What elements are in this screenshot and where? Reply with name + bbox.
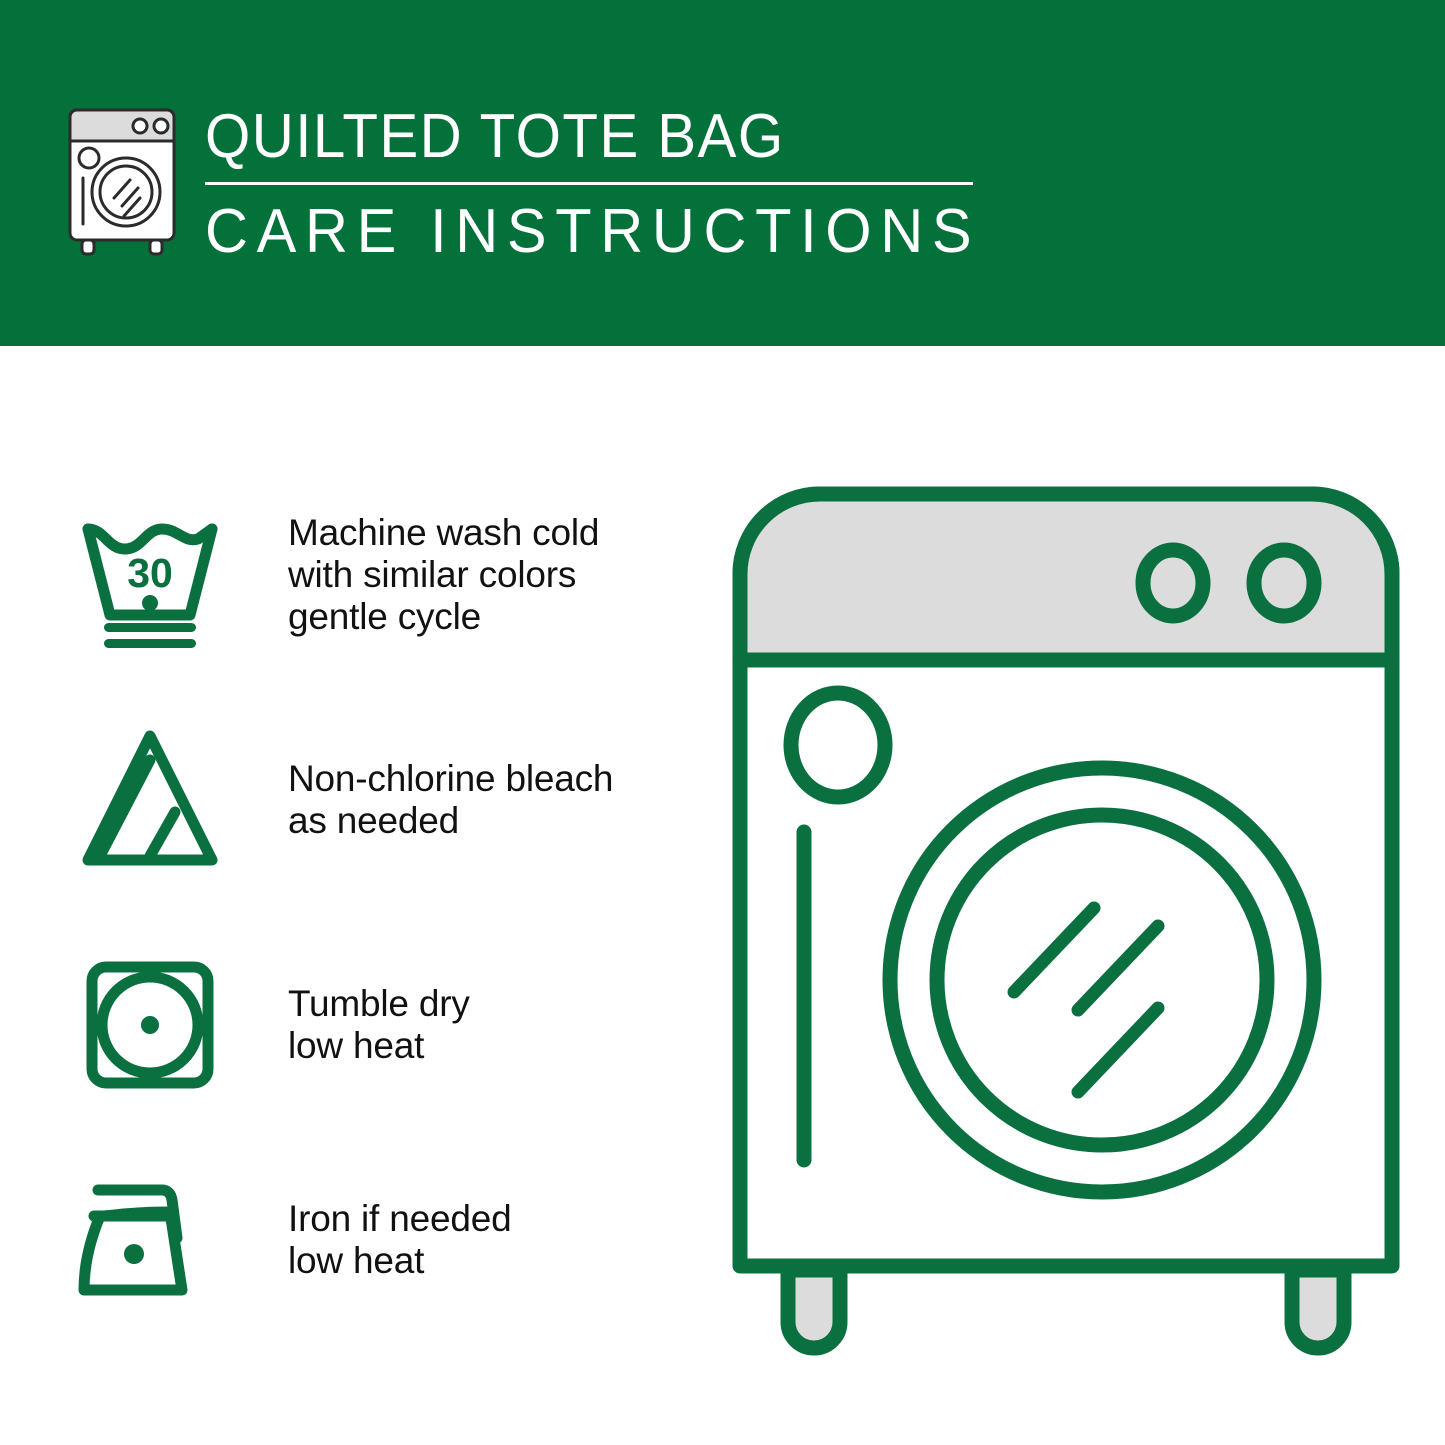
header-band: QUILTED TOTE BAG CARE INSTRUCTIONS [0, 0, 1445, 346]
care-instructions-poster: QUILTED TOTE BAG CARE INSTRUCTIONS 30 [0, 0, 1445, 1445]
page-subtitle: CARE INSTRUCTIONS [205, 195, 963, 269]
page-title: QUILTED TOTE BAG [205, 100, 948, 174]
title-divider [205, 182, 973, 185]
care-text-line: Machine wash cold [288, 512, 599, 554]
top-control-panel [740, 494, 1392, 660]
care-row: Non-chlorine bleach as needed [70, 715, 690, 885]
care-row-text: Iron if needed low heat [288, 1198, 511, 1282]
care-text-line: Iron if needed [288, 1198, 511, 1240]
care-text-line: low heat [288, 1025, 470, 1067]
care-text-line: as needed [288, 800, 613, 842]
care-text-line: Non-chlorine bleach [288, 758, 613, 800]
front-load-washing-machine-illustration [726, 480, 1406, 1370]
header-text-block: QUILTED TOTE BAG CARE INSTRUCTIONS [205, 100, 995, 269]
wash-dot [142, 595, 158, 611]
iron-dot [124, 1244, 144, 1264]
care-row-text: Tumble dry low heat [288, 983, 470, 1067]
wash-tub-30-gentle-icon: 30 [70, 495, 230, 655]
non-chlorine-bleach-triangle-icon [70, 720, 230, 880]
care-text-line: gentle cycle [288, 596, 599, 638]
wash-temperature-label: 30 [127, 550, 173, 596]
care-text-line: low heat [288, 1240, 511, 1282]
tumble-dry-low-icon [70, 945, 230, 1105]
washer-leg [788, 1270, 840, 1348]
care-row: 30 Machine wash cold with similar colors… [70, 490, 690, 660]
washer-leg [1292, 1270, 1344, 1348]
care-row-text: Non-chlorine bleach as needed [288, 758, 613, 842]
care-row: Tumble dry low heat [70, 940, 690, 1110]
washing-machine-icon [62, 104, 182, 256]
care-text-line: with similar colors [288, 554, 599, 596]
care-row-text: Machine wash cold with similar colors ge… [288, 512, 599, 638]
iron-low-heat-icon [70, 1160, 230, 1320]
tumble-dry-dot [141, 1016, 159, 1034]
care-row: Iron if needed low heat [70, 1155, 690, 1325]
care-text-line: Tumble dry [288, 983, 470, 1025]
